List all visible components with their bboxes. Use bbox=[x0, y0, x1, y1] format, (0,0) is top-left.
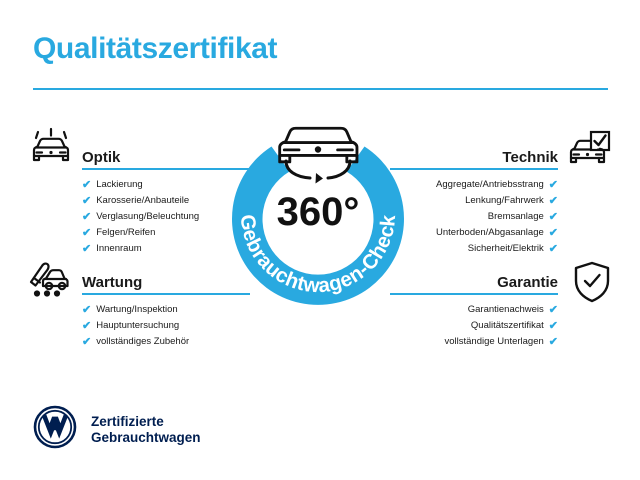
check-icon: ✔ bbox=[82, 196, 91, 207]
certificate-page: Qualitätszertifikat Optik bbox=[0, 0, 640, 480]
list-item-label: Sicherheit/Elektrik bbox=[468, 241, 544, 257]
vw-wordmark: Zertifizierte Gebrauchtwagen bbox=[91, 414, 201, 446]
list-item: ✔Qualitätszertifikat bbox=[390, 318, 558, 334]
check-icon: ✔ bbox=[549, 305, 558, 316]
car-front-checkbox-icon bbox=[566, 126, 612, 177]
list-item-label: Felgen/Reifen bbox=[96, 225, 155, 241]
list-item-label: Wartung/Inspektion bbox=[96, 302, 178, 318]
check-icon: ✔ bbox=[549, 212, 558, 223]
wrench-car-icon bbox=[26, 258, 76, 307]
list-item-label: Qualitätszertifikat bbox=[471, 318, 544, 334]
check-icon: ✔ bbox=[549, 180, 558, 191]
list-item-label: vollständiges Zubehör bbox=[96, 334, 189, 350]
list-item-label: Lenkung/Fahrwerk bbox=[465, 193, 544, 209]
section-title: Optik bbox=[82, 149, 120, 166]
rotation-arrows-icon bbox=[286, 161, 350, 184]
car-front-icon bbox=[280, 128, 357, 162]
list-item-label: vollständige Unterlagen bbox=[444, 334, 543, 350]
list-item-label: Bremsanlage bbox=[488, 209, 544, 225]
list-item-label: Garantienachweis bbox=[468, 302, 544, 318]
check-icon: ✔ bbox=[82, 212, 91, 223]
shield-check-icon bbox=[572, 260, 612, 309]
vw-logo-icon bbox=[33, 405, 77, 454]
section-title: Garantie bbox=[497, 274, 558, 291]
list-item-label: Lackierung bbox=[96, 177, 142, 193]
list-item: ✔vollständige Unterlagen bbox=[390, 334, 558, 350]
check-icon: ✔ bbox=[82, 228, 91, 239]
section-title: Technik bbox=[502, 149, 558, 166]
check-icon: ✔ bbox=[549, 321, 558, 332]
car-emblem-dot bbox=[315, 146, 321, 152]
list-item-label: Aggregate/Antriebsstrang bbox=[436, 177, 544, 193]
section-title: Wartung bbox=[82, 274, 142, 291]
car-front-shine-icon bbox=[28, 126, 74, 177]
list-item-label: Karosserie/Anbauteile bbox=[96, 193, 189, 209]
vw-wordmark-line1: Zertifizierte bbox=[91, 414, 201, 430]
list-item-label: Verglasung/Beleuchtung bbox=[96, 209, 199, 225]
check-icon: ✔ bbox=[82, 305, 91, 316]
check-icon: ✔ bbox=[549, 196, 558, 207]
list-item: ✔Hauptuntersuchung bbox=[82, 318, 250, 334]
check-icon: ✔ bbox=[82, 180, 91, 191]
list-item-label: Unterboden/Abgasanlage bbox=[436, 225, 544, 241]
vw-footer: Zertifizierte Gebrauchtwagen bbox=[33, 405, 201, 454]
check-icon: ✔ bbox=[549, 244, 558, 255]
list-item-label: Hauptuntersuchung bbox=[96, 318, 179, 334]
list-item-label: Innenraum bbox=[96, 241, 141, 257]
badge-center-text: 360° bbox=[277, 190, 360, 234]
check-icon: ✔ bbox=[82, 321, 91, 332]
list-item: ✔vollständiges Zubehör bbox=[82, 334, 250, 350]
check-icon: ✔ bbox=[82, 337, 91, 348]
title-divider bbox=[33, 88, 608, 90]
360-check-badge: Gebrauchtwagen-Check 360° bbox=[218, 115, 418, 315]
page-title: Qualitätszertifikat bbox=[33, 32, 277, 66]
vw-wordmark-line2: Gebrauchtwagen bbox=[91, 430, 201, 446]
check-icon: ✔ bbox=[549, 337, 558, 348]
check-icon: ✔ bbox=[82, 244, 91, 255]
check-icon: ✔ bbox=[549, 228, 558, 239]
